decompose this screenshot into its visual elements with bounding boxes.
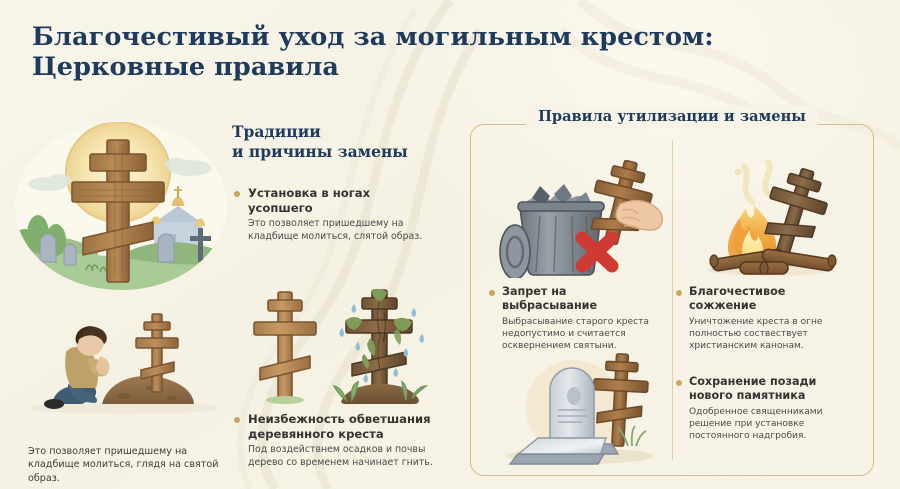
bullet-dot-icon	[234, 417, 240, 423]
tradition-item-2-title-line-1: Неизбежность обветшания	[248, 412, 452, 427]
tradition-item-1-body: Это позволяет пришедшему на кладбище мол…	[248, 218, 434, 243]
page-title: Благочестивый уход за могильным крестом:…	[32, 22, 652, 82]
rule-item-pious-burning: Благочестивое сожжение Уничтожение крест…	[676, 285, 856, 353]
tradition-item-1-title-line-2: усопшего	[248, 201, 434, 216]
new-cross-versus-weathered-mossy-cross	[246, 282, 446, 410]
tradition-item-2: Неизбежность обветшания деревянного крес…	[234, 412, 452, 469]
tradition-item-2-body: Под воздействнем осадков и почвы дерево …	[248, 444, 452, 469]
rule-item-no-throwing-body: Выбрасывание старого креста недопустимо …	[502, 316, 661, 353]
page-title-line-2: Церковные правила	[32, 52, 652, 82]
granite-gravestone-with-wooden-cross	[492, 352, 668, 472]
panel-vertical-divider	[672, 140, 673, 460]
disposal-rules-panel-title-text: Правила утилизации и замены	[526, 106, 818, 128]
tradition-item-2-title-line-2: деревянного креста	[248, 427, 452, 442]
traditions-heading-line-2: и причины замены	[232, 142, 457, 162]
bullet-dot-icon	[489, 290, 495, 296]
rule-item-keep-behind-monument: Сохранение позади нового памятника Одобр…	[676, 375, 862, 443]
traditions-column: Традиции и причины замены	[232, 122, 457, 161]
traditions-heading-line-1: Традиции	[232, 122, 457, 142]
rule-item-keep-behind-monument-body: Одобренное священниками решение при уста…	[689, 406, 862, 443]
orthodox-cross-sunrise-church-illustration	[12, 110, 230, 290]
rule-item-keep-behind-monument-title-line-2: нового памятника	[689, 389, 862, 403]
tradition-item-1: Установка в ногах усопшего Это позволяет…	[234, 186, 434, 243]
trash-can-hand-holding-cross-red-x	[488, 160, 668, 278]
bullet-dot-icon	[676, 290, 682, 296]
tradition-item-1-title-line-1: Установка в ногах	[248, 186, 434, 201]
rule-item-keep-behind-monument-title-line-1: Сохранение позади	[689, 375, 862, 389]
bonfire-burning-cross	[690, 160, 860, 278]
rule-item-pious-burning-body: Уничтожение креста в огне полностью сост…	[689, 316, 856, 353]
rule-item-pious-burning-title: Благочестивое сожжение	[689, 285, 856, 313]
bullet-dot-icon	[234, 191, 240, 197]
bullet-dot-icon	[676, 380, 682, 386]
infographic-page: Благочестивый уход за могильным крестом:…	[0, 0, 900, 489]
rule-item-no-throwing-title: Запрет на выбрасывание	[502, 285, 661, 313]
page-title-line-1: Благочестивый уход за могильным крестом:	[32, 22, 652, 52]
rule-item-no-throwing: Запрет на выбрасывание Выбрасывание стар…	[489, 285, 661, 353]
left-caption: Это позволяет пришедшему на кладбище мол…	[28, 445, 224, 485]
kneeling-man-praying-at-grave-illustration	[24, 300, 229, 440]
disposal-rules-panel-title: Правила утилизации и замены	[470, 106, 874, 128]
